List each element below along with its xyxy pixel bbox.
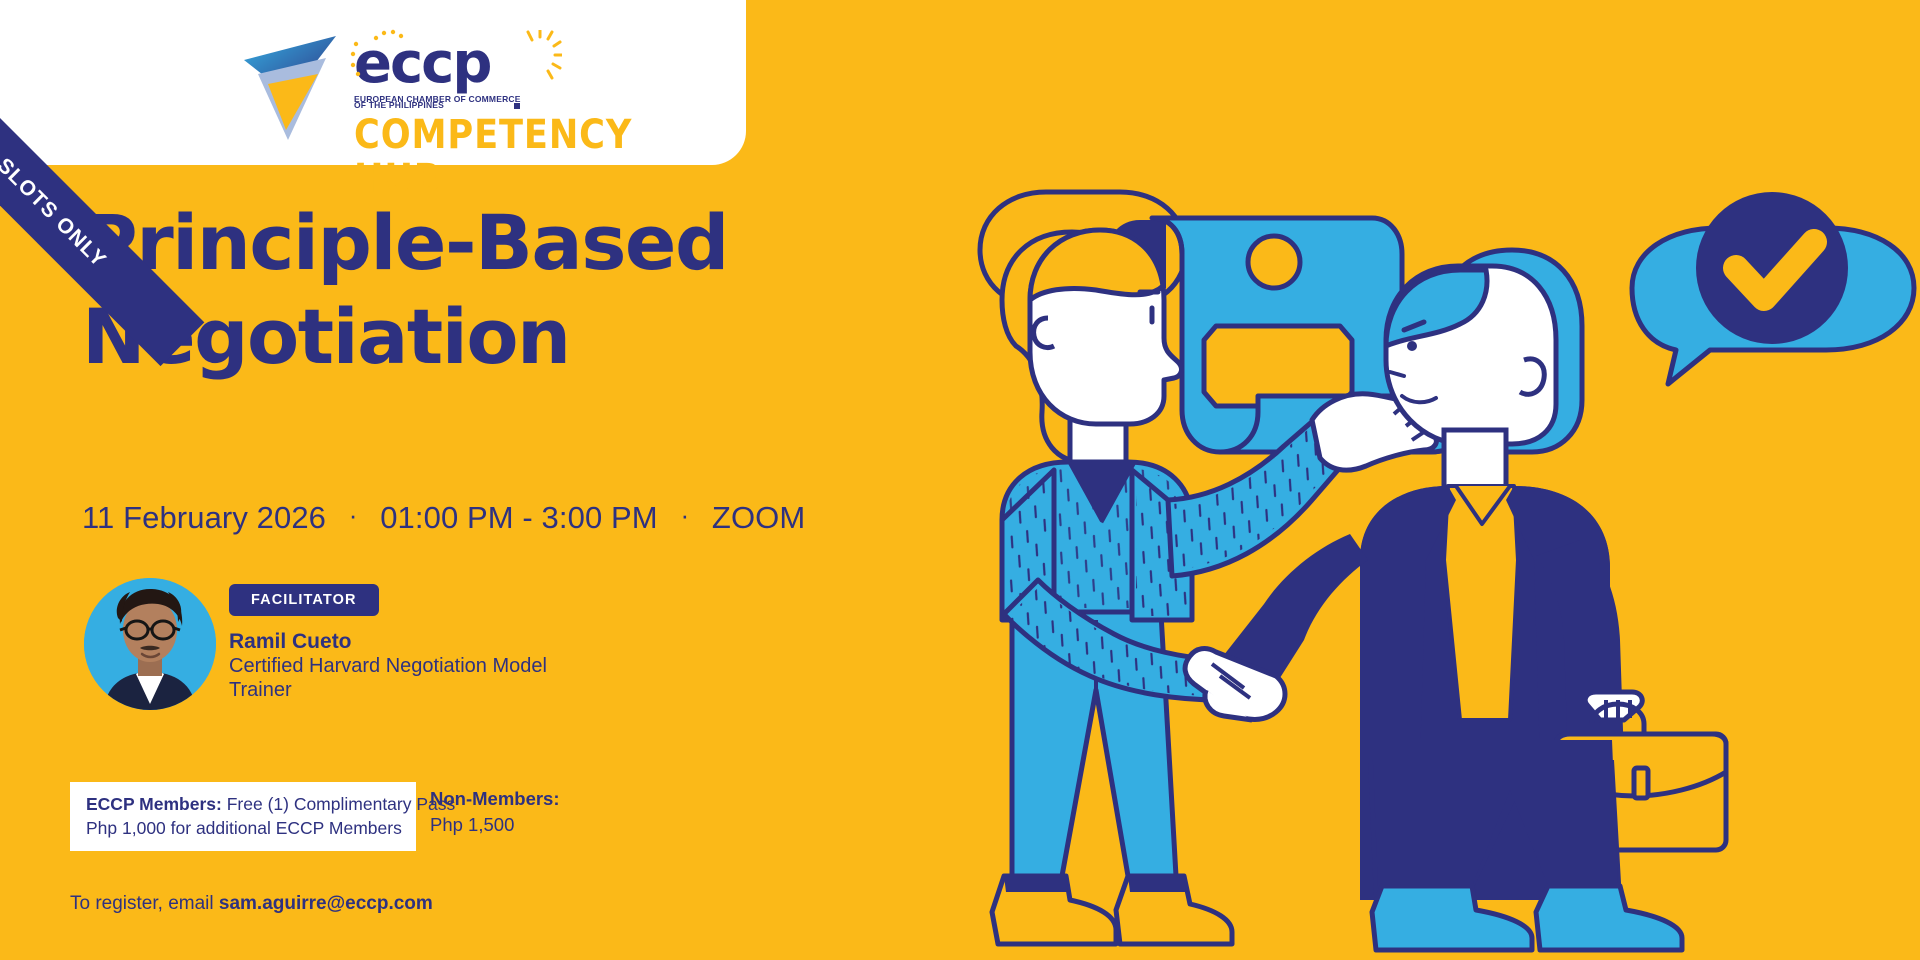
facilitator-details: FACILITATOR Ramil Cueto Certified Harvar… [229,584,547,702]
nonmember-price-label: Non-Members: [430,786,560,812]
nonmember-price-value: Php 1,500 [430,812,560,838]
registration-email[interactable]: sam.aguirre@eccp.com [219,893,433,914]
page-title: Principle-Based Negotiation [82,196,842,384]
facilitator-name: Ramil Cueto [229,629,547,654]
registration-prefix: To register, email [70,893,219,914]
facilitator-block: FACILITATOR Ramil Cueto Certified Harvar… [84,578,844,718]
nonmember-pricing: Non-Members: Php 1,500 [430,786,560,838]
member-price-label: ECCP Members: [86,794,222,814]
member-price-line-2: Php 1,000 for additional ECCP Members [86,816,400,840]
facilitator-avatar [84,578,216,710]
title-line-1: Principle-Based [82,196,842,290]
member-price-line-1: ECCP Members: Free (1) Complimentary Pas… [86,792,400,816]
facilitator-badge: FACILITATOR [229,584,379,616]
event-meta: 11 February 2026 · 01:00 PM - 3:00 PM · … [82,500,805,536]
meta-separator-2: · [680,500,689,531]
member-pricing-box: ECCP Members: Free (1) Complimentary Pas… [70,782,416,851]
illustration-negotiation [920,0,1920,960]
facilitator-title-line-1: Certified Harvard Negotiation Model [229,654,547,678]
poster-canvas: eccp EUROPEAN CHAMBER OF COMMERCE OF THE… [0,0,1920,960]
member-price-value: Free (1) Complimentary Pass [227,794,456,814]
event-info-column: Principle-Based Negotiation 11 February … [0,0,940,960]
title-line-2: Negotiation [82,290,842,384]
event-platform: ZOOM [712,500,805,535]
registration-line: To register, email sam.aguirre@eccp.com [70,892,433,916]
event-date: 11 February 2026 [82,500,326,535]
event-time: 01:00 PM - 3:00 PM [380,500,658,535]
facilitator-title-line-2: Trainer [229,678,547,702]
meta-separator-1: · [349,500,358,531]
